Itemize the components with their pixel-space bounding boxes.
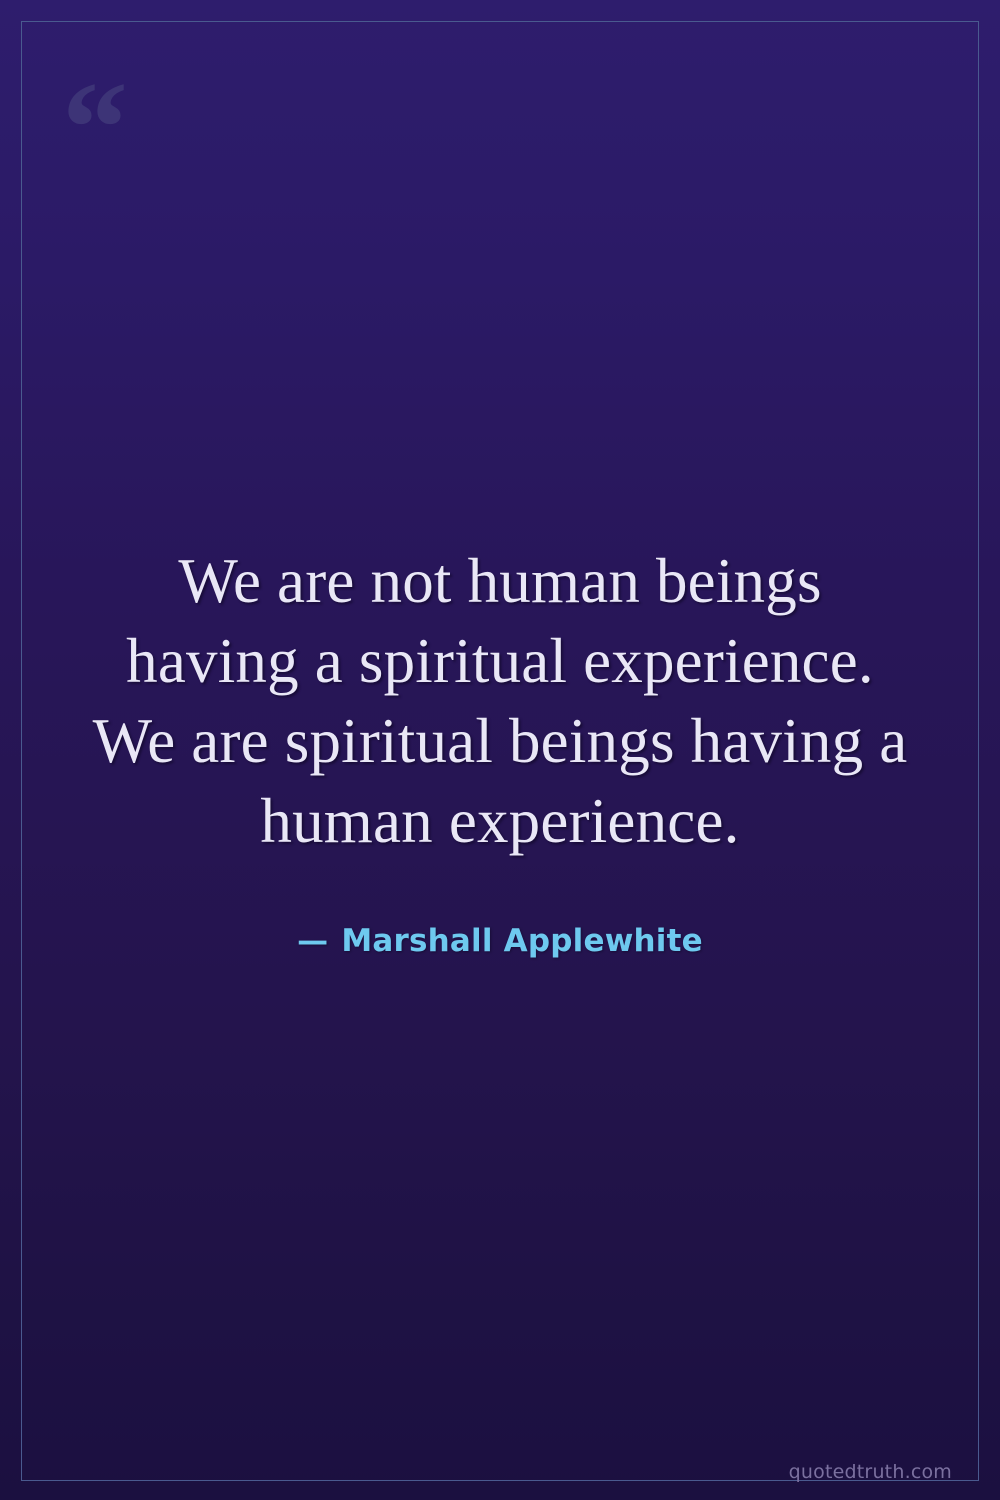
quote-content: We are not human beings having a spiritu… xyxy=(0,0,1000,1500)
site-watermark: quotedtruth.com xyxy=(789,1461,952,1483)
em-dash-icon: — xyxy=(297,923,328,959)
author-name: Marshall Applewhite xyxy=(341,923,703,959)
quote-attribution: — Marshall Applewhite xyxy=(297,923,703,959)
quote-text: We are not human beings having a spiritu… xyxy=(93,541,908,861)
quote-card: “ We are not human beings having a spiri… xyxy=(0,0,1000,1500)
